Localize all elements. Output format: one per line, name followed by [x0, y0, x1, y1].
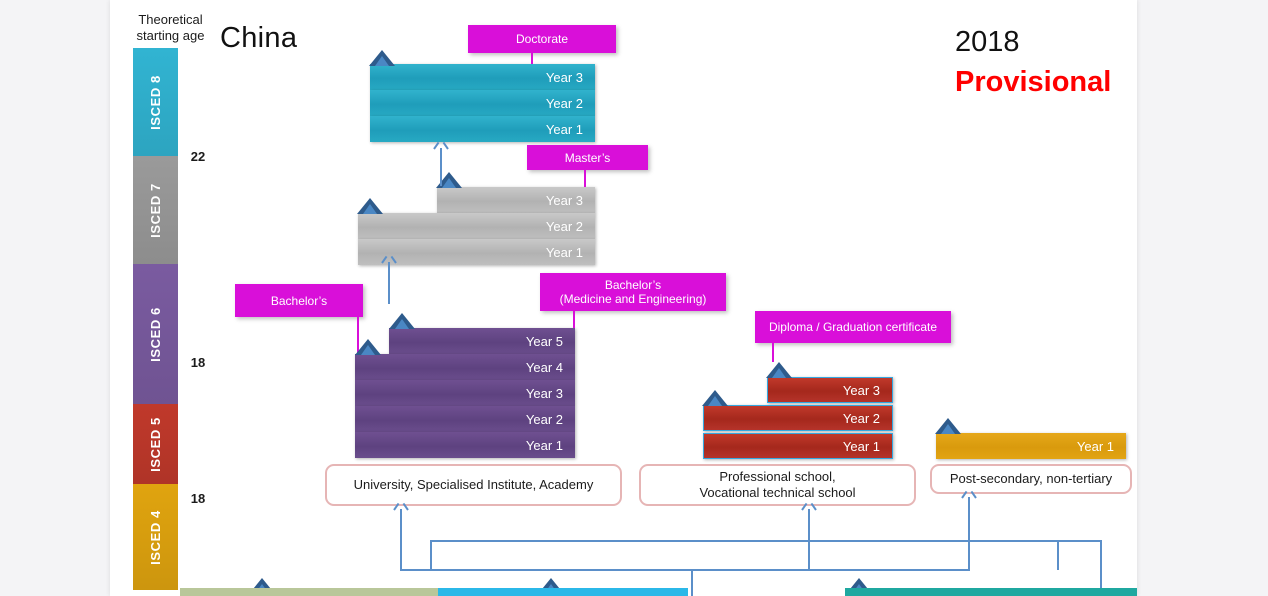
- qualification-stem-bachelors-med: [573, 311, 575, 328]
- isced-band-label: ISCED 5: [148, 417, 163, 472]
- age-label-2: 18: [178, 491, 218, 506]
- year-bar-masters[interactable]: Year 2: [358, 213, 595, 239]
- qualification-stem-masters: [584, 170, 586, 187]
- year-bar-bachelors[interactable]: Year 4: [355, 354, 575, 380]
- connector-bus-horizontal: [400, 569, 970, 571]
- isced-band-label: ISCED 6: [148, 307, 163, 362]
- entry-triangle-vocational-y3: [766, 362, 792, 378]
- isced-band-1: ISCED 7: [133, 156, 178, 264]
- year-bar-bachelors[interactable]: Year 2: [355, 406, 575, 432]
- institution-box-post-secondary[interactable]: Post-secondary, non-tertiary: [930, 464, 1132, 494]
- qualification-stem-diploma: [772, 343, 774, 362]
- year-bar-bachelors[interactable]: Year 3: [355, 380, 575, 406]
- year-bar-vocational[interactable]: Year 3: [767, 377, 893, 403]
- entry-triangle-post-secondary: [935, 418, 961, 434]
- year-bar-post-secondary[interactable]: Year 1: [936, 433, 1126, 459]
- bottom-bar-secondary-cropped: [438, 588, 688, 596]
- provisional-label: Provisional: [955, 66, 1111, 99]
- connector-upper-bus-left: [430, 540, 432, 570]
- isced-band-label: ISCED 8: [148, 75, 163, 130]
- year-bar-bachelors[interactable]: Year 1: [355, 432, 575, 458]
- arrow-to-post-secondary-head: [962, 497, 976, 507]
- connector-bus-drop-mid: [691, 569, 693, 596]
- entry-triangle-masters-y1: [357, 198, 383, 214]
- isced-band-label: ISCED 4: [148, 510, 163, 565]
- year-label: 2018: [955, 26, 1020, 59]
- qualification-label-doctorate[interactable]: Doctorate: [468, 25, 616, 53]
- arrow-to-professional-head: [802, 509, 816, 519]
- year-bar-doctorate[interactable]: Year 1: [370, 116, 595, 142]
- entry-triangle-bachelors-med: [389, 313, 415, 329]
- arrow-to-university-head: [394, 509, 408, 519]
- qualification-label-diploma[interactable]: Diploma / Graduation certificate: [755, 311, 951, 343]
- isced-band-label: ISCED 7: [148, 183, 163, 238]
- bottom-bar-vocational-cropped: [845, 588, 1137, 596]
- qualification-label-bachelors-med[interactable]: Bachelor’s (Medicine and Engineering): [540, 273, 726, 311]
- connector-upper-bus-right: [1057, 540, 1059, 570]
- institution-box-professional[interactable]: Professional school, Vocational technica…: [639, 464, 916, 506]
- arrow-masters-to-doctorate-head: [434, 148, 448, 158]
- year-bar-masters[interactable]: Year 3: [437, 187, 595, 213]
- qualification-stem-doctorate: [531, 53, 533, 64]
- entry-triangle-vocational-y1: [702, 390, 728, 406]
- arrow-to-post-secondary-line: [968, 497, 970, 570]
- isced-band-0: ISCED 8: [133, 48, 178, 156]
- qualification-label-masters[interactable]: Master’s: [527, 145, 648, 170]
- year-bar-bachelors[interactable]: Year 5: [389, 328, 575, 354]
- connector-upper-bus-horizontal: [430, 540, 1100, 542]
- year-bar-vocational[interactable]: Year 2: [703, 405, 893, 431]
- country-title: China: [220, 22, 297, 55]
- entry-triangle-doctorate: [369, 50, 395, 66]
- arrow-bachelors-to-masters-head: [382, 262, 396, 272]
- year-bar-doctorate[interactable]: Year 3: [370, 64, 595, 90]
- year-bar-doctorate[interactable]: Year 2: [370, 90, 595, 116]
- institution-box-university[interactable]: University, Specialised Institute, Acade…: [325, 464, 622, 506]
- entry-triangle-bachelors: [355, 339, 381, 355]
- diagram-canvas: Theoretical starting age China 2018 Prov…: [0, 0, 1268, 596]
- age-label-0: 22: [178, 149, 218, 164]
- isced-band-3: ISCED 5: [133, 404, 178, 484]
- isced-band-2: ISCED 6: [133, 264, 178, 404]
- isced-band-4: ISCED 4: [133, 484, 178, 590]
- age-column-caption: Theoretical starting age: [123, 12, 218, 44]
- age-label-1: 18: [178, 355, 218, 370]
- year-bar-vocational[interactable]: Year 1: [703, 433, 893, 459]
- qualification-label-bachelors[interactable]: Bachelor’s: [235, 284, 363, 317]
